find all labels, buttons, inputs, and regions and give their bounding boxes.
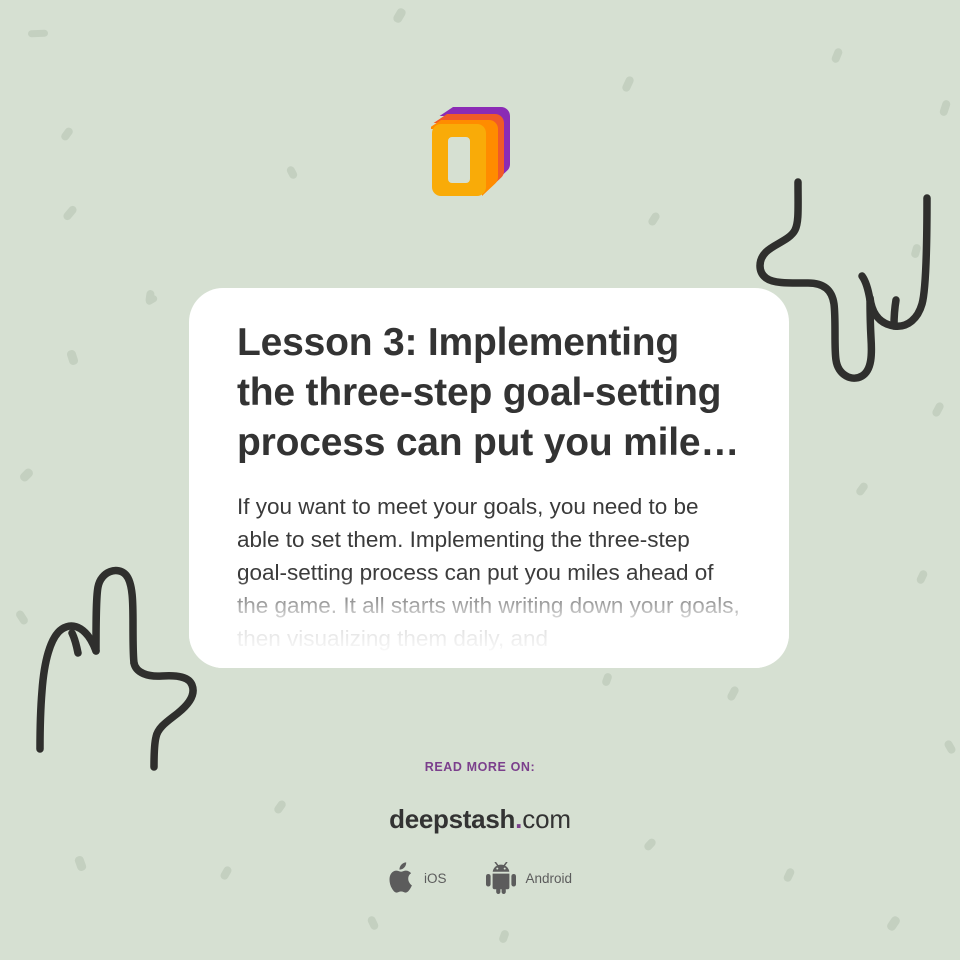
confetti-dash <box>66 349 79 366</box>
logo-layer-front <box>432 124 486 196</box>
confetti-dash <box>939 99 952 117</box>
read-more-label: READ MORE ON: <box>0 760 960 774</box>
ios-store-label: iOS <box>424 871 447 886</box>
confetti-dash <box>886 915 902 932</box>
footer: READ MORE ON: deepstash.com iOS <box>0 760 960 894</box>
confetti-dash <box>62 204 78 221</box>
deepstash-logo <box>431 105 515 197</box>
confetti-dash <box>28 30 48 38</box>
confetti-dash <box>366 915 379 931</box>
confetti-dash <box>498 929 510 944</box>
confetti-dash <box>285 165 298 180</box>
confetti-dash <box>145 294 159 306</box>
pointing-hand-up-icon <box>26 563 206 781</box>
android-store-label: Android <box>525 871 572 886</box>
idea-card[interactable]: Lesson 3: Implementing the three-step go… <box>189 288 789 668</box>
confetti-dash <box>943 739 957 755</box>
brand-name: deepstash <box>389 804 515 834</box>
confetti-dash <box>601 672 613 687</box>
confetti-dash <box>18 467 34 483</box>
confetti-dash <box>830 47 843 64</box>
confetti-dash <box>647 211 661 227</box>
confetti-dash <box>915 569 928 585</box>
brand-tld: com <box>522 804 571 834</box>
app-store-badges: iOS <box>0 862 960 894</box>
deepstash-share-card: Lesson 3: Implementing the three-step go… <box>0 0 960 960</box>
brand-wordmark[interactable]: deepstash.com <box>0 804 960 835</box>
idea-body-text: If you want to meet your goals, you need… <box>237 490 741 655</box>
confetti-dash <box>931 401 945 418</box>
confetti-dash <box>60 126 75 142</box>
apple-icon <box>388 862 415 894</box>
confetti-dash <box>145 290 155 305</box>
confetti-dash <box>621 75 635 93</box>
ios-store-badge[interactable]: iOS <box>388 862 447 894</box>
android-icon <box>486 862 516 894</box>
idea-title: Lesson 3: Implementing the three-step go… <box>237 318 741 468</box>
confetti-dash <box>726 685 740 702</box>
android-store-badge[interactable]: Android <box>486 862 572 894</box>
confetti-dash <box>855 481 870 497</box>
confetti-dash <box>392 7 407 24</box>
